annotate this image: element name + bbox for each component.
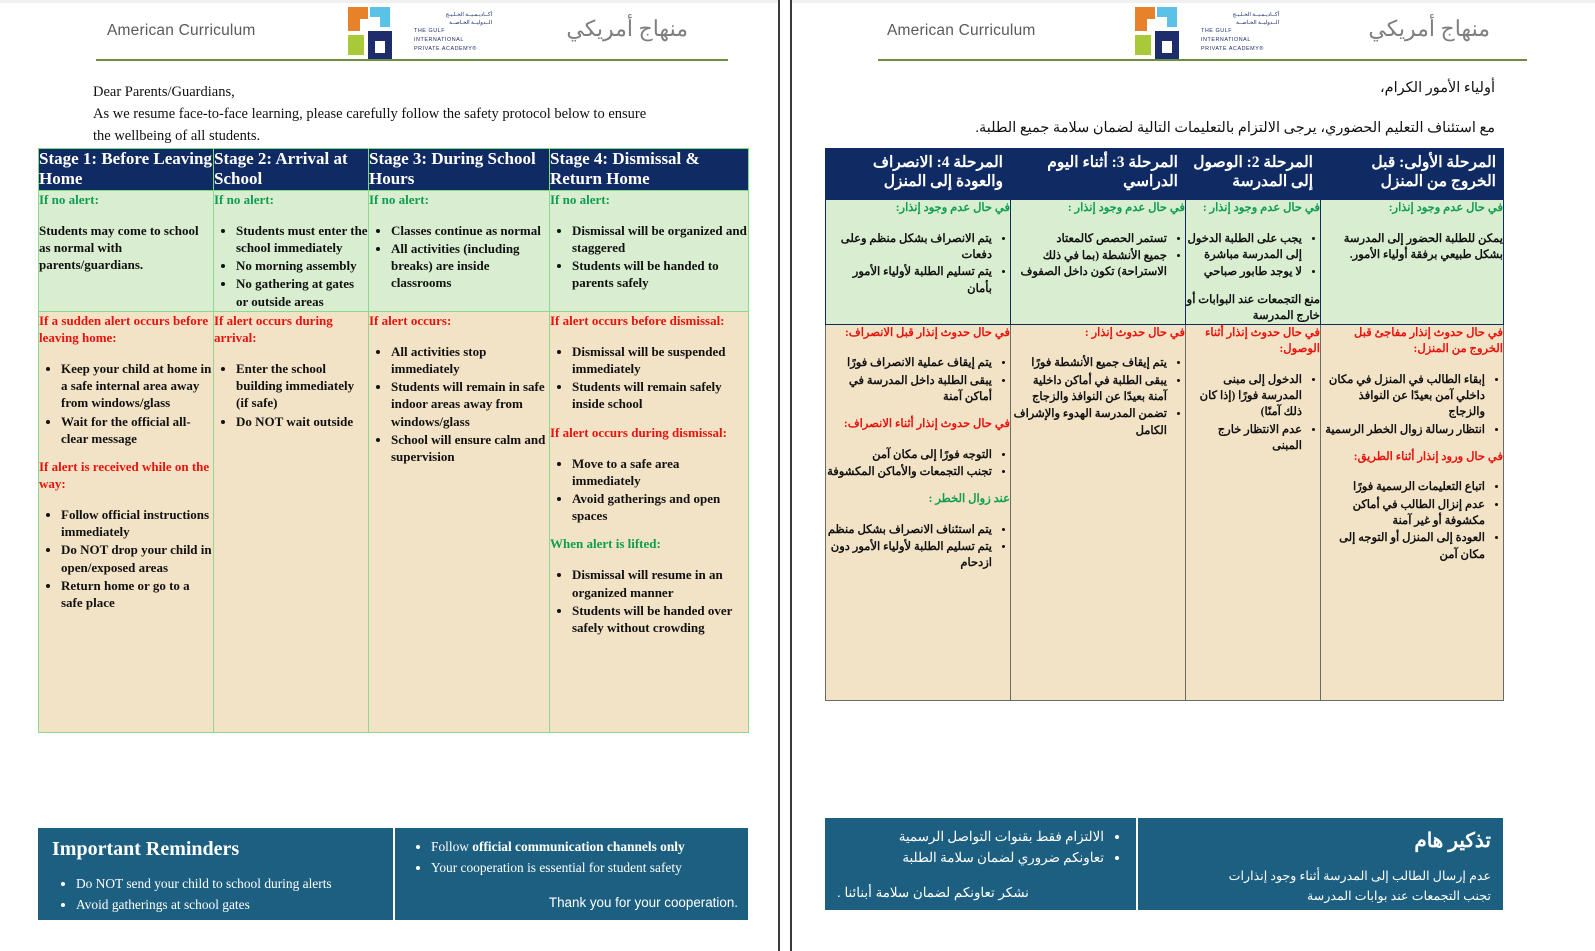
logo-arabic-line2: الــدوليــة الخـاصــة	[414, 19, 492, 27]
table-header-row: Stage 1: Before Leaving Home Stage 2: Ar…	[39, 149, 749, 191]
column-header-stage3-ar: المرحلة 3: أثناء اليوم الدراسي	[1011, 149, 1186, 200]
reminder-item: Your cooperation is essential for studen…	[431, 858, 738, 879]
bullet-list: Classes continue as normalAll activities…	[369, 222, 549, 292]
spacer	[826, 481, 1010, 491]
cell-no-alert-stage4-ar: في حال عدم وجود إنذار:يتم الانصراف بشكل …	[826, 200, 1011, 325]
cell-alert-stage2-ar: في حال حدوث إنذار أثناء الوصول:الدخول إل…	[1186, 325, 1321, 701]
reminders-right-list: Follow official communication channels o…	[407, 837, 738, 879]
column-header-stage1: Stage 1: Before Leaving Home	[39, 149, 214, 191]
bullet-list: Students must enter the school immediate…	[214, 222, 368, 310]
bullet-item: Move to a safe area immediately	[572, 455, 748, 489]
curriculum-label-ar-2: منهاج أمريكي	[1368, 16, 1490, 42]
reminder-item-ar: الالتزام فقط بقنوات التواصل الرسمية	[837, 827, 1104, 848]
block-heading-alert: If a sudden alert occurs before leaving …	[39, 312, 213, 346]
block-heading-clear: في حال عدم وجود إنذار:	[826, 200, 1010, 216]
bullet-item: لا يوجد طابور صباحي	[1186, 264, 1302, 280]
intro-line-2-ar: مع استئناف التعليم الحضوري، يرجى الالتزا…	[815, 118, 1495, 140]
bullet-list: يتم الانصراف بشكل منظم وعلى دفعاتيتم تسل…	[826, 231, 1010, 297]
block-heading-clear: If no alert:	[550, 191, 748, 208]
spacer	[214, 212, 368, 222]
cell-alert-stage4-ar: في حال حدوث إنذار قبل الانصراف:يتم إيقاف…	[826, 325, 1011, 701]
emphasis: official communication channels only	[472, 839, 684, 854]
bullet-item: Students will be handed to parents safel…	[572, 257, 748, 291]
block-heading-alert: في حال حدوث إنذار مفاجئ قبل الخروج من ال…	[1321, 325, 1503, 358]
bullet-list: Dismissal will be organized and staggere…	[550, 222, 748, 292]
no-alert-row: If no alert:Students may come to school …	[39, 190, 749, 311]
reminders-right: Follow official communication channels o…	[395, 828, 748, 920]
bullet-list: إبقاء الطالب في المنزل في مكان داخلي آمن…	[1321, 372, 1503, 438]
bullet-item: عدم إنزال الطالب في أماكن مكشوفة أو غير …	[1321, 497, 1485, 530]
table-header-row-ar: المرحلة 4: الانصراف والعودة إلى المنزل ا…	[826, 149, 1504, 200]
block-heading-alert: If alert occurs during arrival:	[214, 312, 368, 346]
logo-mark	[1135, 5, 1197, 63]
cell-no-alert-stage4: If no alert:Dismissal will be organized …	[550, 190, 749, 311]
bullet-item: Students will remain in safe indoor area…	[391, 378, 549, 429]
bullet-list: Follow official instructions immediately…	[39, 506, 213, 611]
cell-no-alert-stage3: If no alert:Classes continue as normalAl…	[369, 190, 550, 311]
spacer	[550, 445, 748, 455]
bullet-item: No gathering at gates or outside areas	[236, 275, 368, 309]
spacer	[1011, 221, 1185, 231]
bullet-item: يتم استئناف الانصراف بشكل منظم	[826, 522, 992, 538]
bullet-item: Do NOT drop your child in open/exposed a…	[61, 541, 213, 575]
bullet-item: Classes continue as normal	[391, 222, 549, 239]
gipa-logo-ar: أكــاديـمـيــة الخـلـيـج الــدوليــة الخ…	[1127, 5, 1279, 65]
reminder-item: Do NOT send your child to school during …	[76, 874, 381, 895]
block-heading-clear: عند زوال الخطر :	[826, 491, 1010, 507]
thanks-note-ar: نشكر تعاونكم لضمان سلامة أبنائنا .	[837, 885, 1126, 901]
bullet-item: يبقى الطلبة في أماكن داخلية آمنة بعيدًا …	[1011, 373, 1167, 406]
bullet-item: Wait for the official all-clear message	[61, 413, 213, 447]
cell-no-alert-stage1-ar: في حال عدم وجود إنذار:يمكن للطلبة الحضور…	[1321, 200, 1504, 325]
bullet-item: Dismissal will resume in an organized ma…	[572, 566, 748, 600]
cell-no-alert-stage2-ar: في حال عدم وجود إنذار :يجب على الطلبة ال…	[1186, 200, 1321, 325]
spacer	[369, 212, 549, 222]
block-heading-clear: When alert is lifted:	[550, 535, 748, 552]
spacer	[1011, 345, 1185, 355]
logo-en-line1: THE GULF	[1201, 28, 1279, 36]
bullet-item: Follow official instructions immediately	[61, 506, 213, 540]
intro-line-1-ar: أولياء الأمور الكرام،	[815, 78, 1495, 100]
curriculum-label-en: American Curriculum	[107, 22, 256, 40]
spacer	[39, 496, 213, 506]
spacer	[39, 448, 213, 458]
logo-arabic-line1: أكــاديـمـيــة الخـلـيـج	[414, 11, 492, 19]
spacer	[826, 512, 1010, 522]
block-heading-clear: في حال عدم وجود إنذار :	[1186, 200, 1320, 216]
arabic-page-header: American Curriculum أكــاديـمـيــة الخـل…	[792, 0, 1595, 72]
bullet-list: الدخول إلى مبنى المدرسة فورًا (إذا كان ذ…	[1186, 372, 1320, 455]
spacer	[369, 333, 549, 343]
bullet-list: Keep your child at home in a safe intern…	[39, 360, 213, 447]
curriculum-label-ar: منهاج أمريكي	[566, 16, 688, 42]
bullet-item: All activities (including breaks) are in…	[391, 240, 549, 291]
english-page: American Curriculum أكــاديـمـيــة الخـل…	[0, 0, 780, 951]
logo-wordmark: أكــاديـمـيــة الخـلـيـج الــدوليــة الخ…	[414, 11, 492, 54]
english-protocol-table: Stage 1: Before Leaving Home Stage 2: Ar…	[38, 148, 749, 733]
block-heading-clear: If no alert:	[39, 191, 213, 208]
bullet-list: التوجه فورًا إلى مكان آمنتجنب التجمعات و…	[826, 447, 1010, 481]
bullet-item: Students must enter the school immediate…	[236, 222, 368, 256]
reminder-item: Avoid gatherings at school gates	[76, 895, 381, 916]
cell-alert-stage1: If a sudden alert occurs before leaving …	[39, 311, 214, 732]
curriculum-label-en-ar-page: American Curriculum	[887, 22, 1036, 40]
bullet-list: يتم إيقاف عملية الانصراف فورًايبقى الطلب…	[826, 355, 1010, 405]
block-heading-alert: في حال حدوث إنذار :	[1011, 325, 1185, 341]
cell-no-alert-stage3-ar: في حال عدم وجود إنذار :تستمر الحصص كالمع…	[1011, 200, 1186, 325]
logo-en-line3: PRIVATE ACADEMY®	[1201, 46, 1279, 54]
bullet-item: School will ensure calm and supervision	[391, 431, 549, 465]
spacer	[39, 212, 213, 222]
bullet-item: تجنب التجمعات والأماكن المكشوفة	[826, 464, 992, 480]
spacer	[826, 437, 1010, 447]
bullet-item: All activities stop immediately	[391, 343, 549, 377]
block-heading-alert: في حال حدوث إنذار أثناء الوصول:	[1186, 325, 1320, 358]
spacer	[550, 525, 748, 535]
header-divider-ar	[878, 59, 1527, 61]
column-header-stage1-ar: المرحلة الأولى: قبل الخروج من المنزل	[1321, 149, 1504, 200]
intro-line-2: As we resume face-to-face learning, plea…	[93, 104, 733, 126]
english-intro: Dear Parents/Guardians, As we resume fac…	[93, 82, 733, 147]
cell-alert-stage3: If alert occurs:All activities stop imme…	[369, 311, 550, 732]
bullet-item: Enter the school building immediately (i…	[236, 360, 368, 411]
bullet-item: No morning assembly	[236, 257, 368, 274]
bullet-list: تستمر الحصص كالمعتادجميع الأنشطة (بما في…	[1011, 231, 1185, 281]
block-heading-alert: في حال حدوث إنذار أثناء الانصراف:	[826, 416, 1010, 432]
block-heading-clear: If no alert:	[214, 191, 368, 208]
block-heading-alert: If alert occurs:	[369, 312, 549, 329]
bullet-item: Students will be handed over safely with…	[572, 602, 748, 636]
bullet-list: Dismissal will resume in an organized ma…	[550, 566, 748, 636]
alert-row: If a sudden alert occurs before leaving …	[39, 311, 749, 732]
block-heading-alert: في حال حدوث إنذار قبل الانصراف:	[826, 325, 1010, 341]
reminders-title-ar: تذكير هام	[1152, 828, 1491, 853]
spacer	[550, 414, 748, 424]
column-header-stage4-ar: المرحلة 4: الانصراف والعودة إلى المنزل	[826, 149, 1011, 200]
block-heading-clear: If no alert:	[369, 191, 549, 208]
paragraph: يمكن للطلبة الحضور إلى المدرسة بشكل طبيع…	[1321, 231, 1503, 264]
alert-row-ar: في حال حدوث إنذار قبل الانصراف:يتم إيقاف…	[826, 325, 1504, 701]
bullet-item: Dismissal will be suspended immediately	[572, 343, 748, 377]
block-heading-alert: في حال ورود إنذار أثناء الطريق:	[1321, 449, 1503, 465]
spacer	[214, 350, 368, 360]
intro-line-1: Dear Parents/Guardians,	[93, 82, 733, 104]
block-heading-alert: If alert occurs before dismissal:	[550, 312, 748, 329]
logo-mark	[348, 5, 410, 63]
cell-alert-stage4: If alert occurs before dismissal:Dismiss…	[550, 311, 749, 732]
logo-arabic-line1: أكــاديـمـيــة الخـلـيـج	[1201, 11, 1279, 19]
logo-arabic-line2: الــدوليــة الخـاصــة	[1201, 19, 1279, 27]
block-heading-alert: If alert occurs during dismissal:	[550, 424, 748, 441]
paragraph: منع التجمعات عند البوابات أو خارج المدرس…	[1186, 292, 1320, 325]
spacer	[550, 556, 748, 566]
spacer	[1321, 469, 1503, 479]
column-header-stage2-ar: المرحلة 2: الوصول إلى المدرسة	[1186, 149, 1321, 200]
bullet-item: يتم إيقاف عملية الانصراف فورًا	[826, 355, 992, 371]
bullet-item: يتم تسليم الطلبة لأولياء الأمور دون ازدح…	[826, 539, 992, 572]
bullet-list: Move to a safe area immediatelyAvoid gat…	[550, 455, 748, 525]
reminder-item-ar: تجنب التجمعات عند بوابات المدرسة	[1152, 886, 1491, 906]
logo-en-line2: INTERNATIONAL	[414, 37, 492, 45]
bullet-item: يبقى الطلبة داخل المدرسة في أماكن آمنة	[826, 373, 992, 406]
bullet-item: إبقاء الطالب في المنزل في مكان داخلي آمن…	[1321, 372, 1485, 421]
spacer	[1321, 362, 1503, 372]
reminders-left: Important Reminders Do NOT send your chi…	[38, 828, 393, 920]
thanks-note-en: Thank you for your cooperation.	[407, 895, 738, 910]
spacer	[550, 212, 748, 222]
english-reminders-banner: Important Reminders Do NOT send your chi…	[38, 828, 748, 920]
reminder-item-ar: تعاونكم ضروري لضمان سلامة الطلبة	[837, 848, 1104, 869]
header-divider-en	[96, 59, 728, 61]
block-heading-clear: في حال عدم وجود إنذار:	[1321, 200, 1503, 216]
column-header-stage2: Stage 2: Arrival at School	[214, 149, 369, 191]
english-page-header: American Curriculum أكــاديـمـيــة الخـل…	[0, 0, 778, 72]
arabic-page: American Curriculum أكــاديـمـيــة الخـل…	[790, 0, 1595, 951]
reminder-item-ar: عدم إرسال الطالب إلى المدرسة أثناء وجود …	[1152, 866, 1491, 886]
bullet-item: تضمن المدرسة الهدوء والإشراف الكامل	[1011, 406, 1167, 439]
spacer	[826, 406, 1010, 416]
logo-wordmark: أكــاديـمـيــة الخـلـيـج الــدوليــة الخ…	[1201, 11, 1279, 54]
cell-alert-stage2: If alert occurs during arrival:Enter the…	[214, 311, 369, 732]
cell-alert-stage1-ar: في حال حدوث إنذار مفاجئ قبل الخروج من ال…	[1321, 325, 1504, 701]
bullet-item: العودة إلى المنزل أو التوجه إلى مكان آمن	[1321, 530, 1485, 563]
bullet-item: يجب على الطلبة الدخول إلى المدرسة مباشرة	[1186, 231, 1302, 264]
bullet-item: اتباع التعليمات الرسمية فورًا	[1321, 479, 1485, 495]
cell-no-alert-stage2: If no alert:Students must enter the scho…	[214, 190, 369, 311]
bullet-item: Keep your child at home in a safe intern…	[61, 360, 213, 411]
block-heading-alert: If alert is received while on the way:	[39, 458, 213, 492]
cell-alert-stage3-ar: في حال حدوث إنذار :يتم إيقاف جميع الأنشط…	[1011, 325, 1186, 701]
reminder-item: Follow official communication channels o…	[431, 837, 738, 858]
bullet-item: Dismissal will be organized and staggere…	[572, 222, 748, 256]
spacer	[826, 345, 1010, 355]
column-header-stage4: Stage 4: Dismissal & Return Home	[550, 149, 749, 191]
paragraph: Students may come to school as normal wi…	[39, 222, 213, 273]
bullet-item: Avoid gatherings and open spaces	[572, 490, 748, 524]
bullet-item: Do NOT wait outside	[236, 413, 368, 430]
bullet-item: Students will remain safely inside schoo…	[572, 378, 748, 412]
bullet-item: جميع الأنشطة (بما في ذلك الاستراحة) تكون…	[1011, 248, 1167, 281]
spacer	[826, 221, 1010, 231]
bullet-item: يتم إيقاف جميع الأنشطة فورًا	[1011, 355, 1167, 371]
arabic-reminders-banner: الالتزام فقط بقنوات التواصل الرسميةتعاون…	[825, 818, 1503, 910]
bullet-list: Dismissal will be suspended immediatelyS…	[550, 343, 748, 413]
column-header-stage3: Stage 3: During School Hours	[369, 149, 550, 191]
gipa-logo: أكــاديـمـيــة الخـلـيـج الــدوليــة الخ…	[340, 5, 492, 65]
spacer	[1321, 221, 1503, 231]
bullet-item: عدم الانتظار خارج المبنى	[1186, 422, 1302, 455]
bullet-item: يتم تسليم الطلبة لأولياء الأمور بأمان	[826, 264, 992, 297]
bullet-item: تستمر الحصص كالمعتاد	[1011, 231, 1167, 247]
spacer	[1321, 439, 1503, 449]
bullet-list: يتم استئناف الانصراف بشكل منظميتم تسليم …	[826, 522, 1010, 572]
bullet-list: Enter the school building immediately (i…	[214, 360, 368, 430]
bullet-item: انتظار رسالة زوال الخطر الرسمية	[1321, 422, 1485, 438]
logo-en-line1: THE GULF	[414, 28, 492, 36]
logo-en-line3: PRIVATE ACADEMY®	[414, 46, 492, 54]
arabic-protocol-table: المرحلة 4: الانصراف والعودة إلى المنزل ا…	[825, 148, 1504, 701]
spacer	[1186, 282, 1320, 292]
bullet-list: يتم إيقاف جميع الأنشطة فورًايبقى الطلبة …	[1011, 355, 1185, 439]
reminders-left-list: Do NOT send your child to school during …	[52, 874, 381, 916]
reminders-right-ar: تذكير هام عدم إرسال الطالب إلى المدرسة أ…	[1138, 818, 1503, 910]
bullet-item: Return home or go to a safe place	[61, 577, 213, 611]
bullet-list: All activities stop immediatelyStudents …	[369, 343, 549, 465]
no-alert-row-ar: في حال عدم وجود إنذار:يتم الانصراف بشكل …	[826, 200, 1504, 325]
bullet-item: الدخول إلى مبنى المدرسة فورًا (إذا كان ذ…	[1186, 372, 1302, 421]
logo-en-line2: INTERNATIONAL	[1201, 37, 1279, 45]
reminders-left-ar: الالتزام فقط بقنوات التواصل الرسميةتعاون…	[825, 818, 1136, 910]
reminders-left-list-ar: الالتزام فقط بقنوات التواصل الرسميةتعاون…	[837, 827, 1126, 869]
bullet-item: يتم الانصراف بشكل منظم وعلى دفعات	[826, 231, 992, 264]
spacer	[1186, 221, 1320, 231]
bullet-item: التوجه فورًا إلى مكان آمن	[826, 447, 992, 463]
block-heading-clear: في حال عدم وجود إنذار :	[1011, 200, 1185, 216]
reminders-title: Important Reminders	[52, 838, 381, 861]
spacer	[550, 333, 748, 343]
intro-line-3: the wellbeing of all students.	[93, 126, 733, 148]
cell-no-alert-stage1: If no alert:Students may come to school …	[39, 190, 214, 311]
bullet-list: اتباع التعليمات الرسمية فورًاعدم إنزال ا…	[1321, 479, 1503, 563]
bullet-list: يجب على الطلبة الدخول إلى المدرسة مباشرة…	[1186, 231, 1320, 281]
spacer	[1186, 362, 1320, 372]
spacer	[39, 350, 213, 360]
reminders-right-list-ar: عدم إرسال الطالب إلى المدرسة أثناء وجود …	[1152, 866, 1491, 906]
arabic-intro: أولياء الأمور الكرام، مع استئناف التعليم…	[815, 78, 1495, 140]
